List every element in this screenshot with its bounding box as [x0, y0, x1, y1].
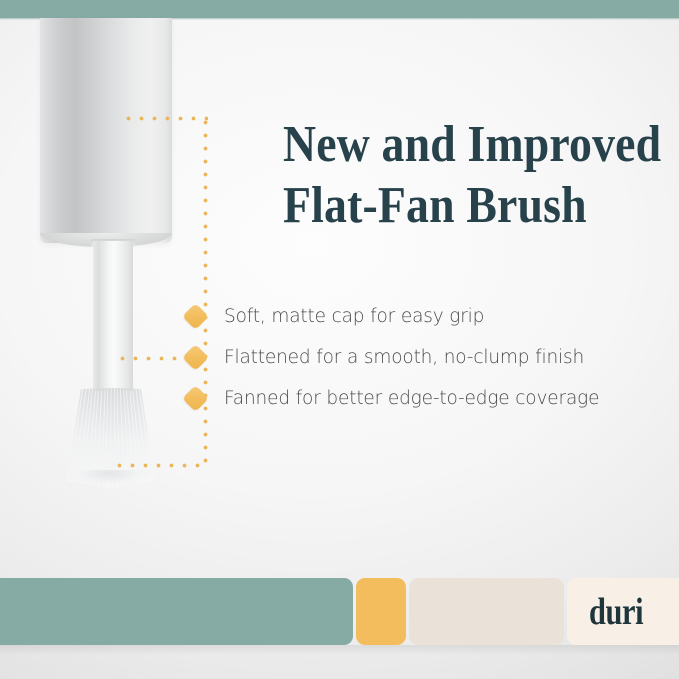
page-title: New and Improved Flat-Fan Brush [283, 115, 617, 237]
diamond-bullet-icon [182, 303, 209, 330]
list-item: Flattened for a smooth, no-clump finish [186, 337, 656, 378]
diamond-bullet-icon [182, 344, 209, 371]
bottom-color-bar: duri [0, 578, 679, 645]
list-item: Soft, matte cap for easy grip [186, 296, 656, 337]
feature-text: Flattened for a smooth, no-clump finish [224, 347, 584, 368]
product-brush-stem [93, 241, 133, 391]
feature-list: Soft, matte cap for easy grip Flattened … [186, 296, 656, 419]
diamond-bullet-icon [182, 385, 209, 412]
headline-line-1: New and Improved [283, 115, 617, 176]
list-item: Fanned for better edge-to-edge coverage [186, 378, 656, 419]
connector-dots-bottom-horizontal [113, 463, 207, 468]
connector-dots-top-horizontal [122, 116, 208, 121]
color-swatch-green [0, 578, 353, 645]
product-bristle-tip-shadow [62, 470, 158, 492]
top-green-strip [0, 0, 679, 18]
feature-text: Fanned for better edge-to-edge coverage [224, 388, 599, 409]
promo-image: New and Improved Flat-Fan Brush Soft, ma… [0, 0, 679, 679]
bottom-bar-shadow [0, 645, 679, 655]
headline-line-2: Flat-Fan Brush [283, 176, 617, 237]
brand-logo-tile: duri [567, 578, 679, 645]
color-swatch-amber [356, 578, 406, 645]
product-matte-cap [40, 18, 172, 243]
feature-text: Soft, matte cap for easy grip [224, 306, 484, 327]
color-swatch-cream [409, 578, 564, 645]
brand-logo-text: duri [589, 590, 643, 634]
